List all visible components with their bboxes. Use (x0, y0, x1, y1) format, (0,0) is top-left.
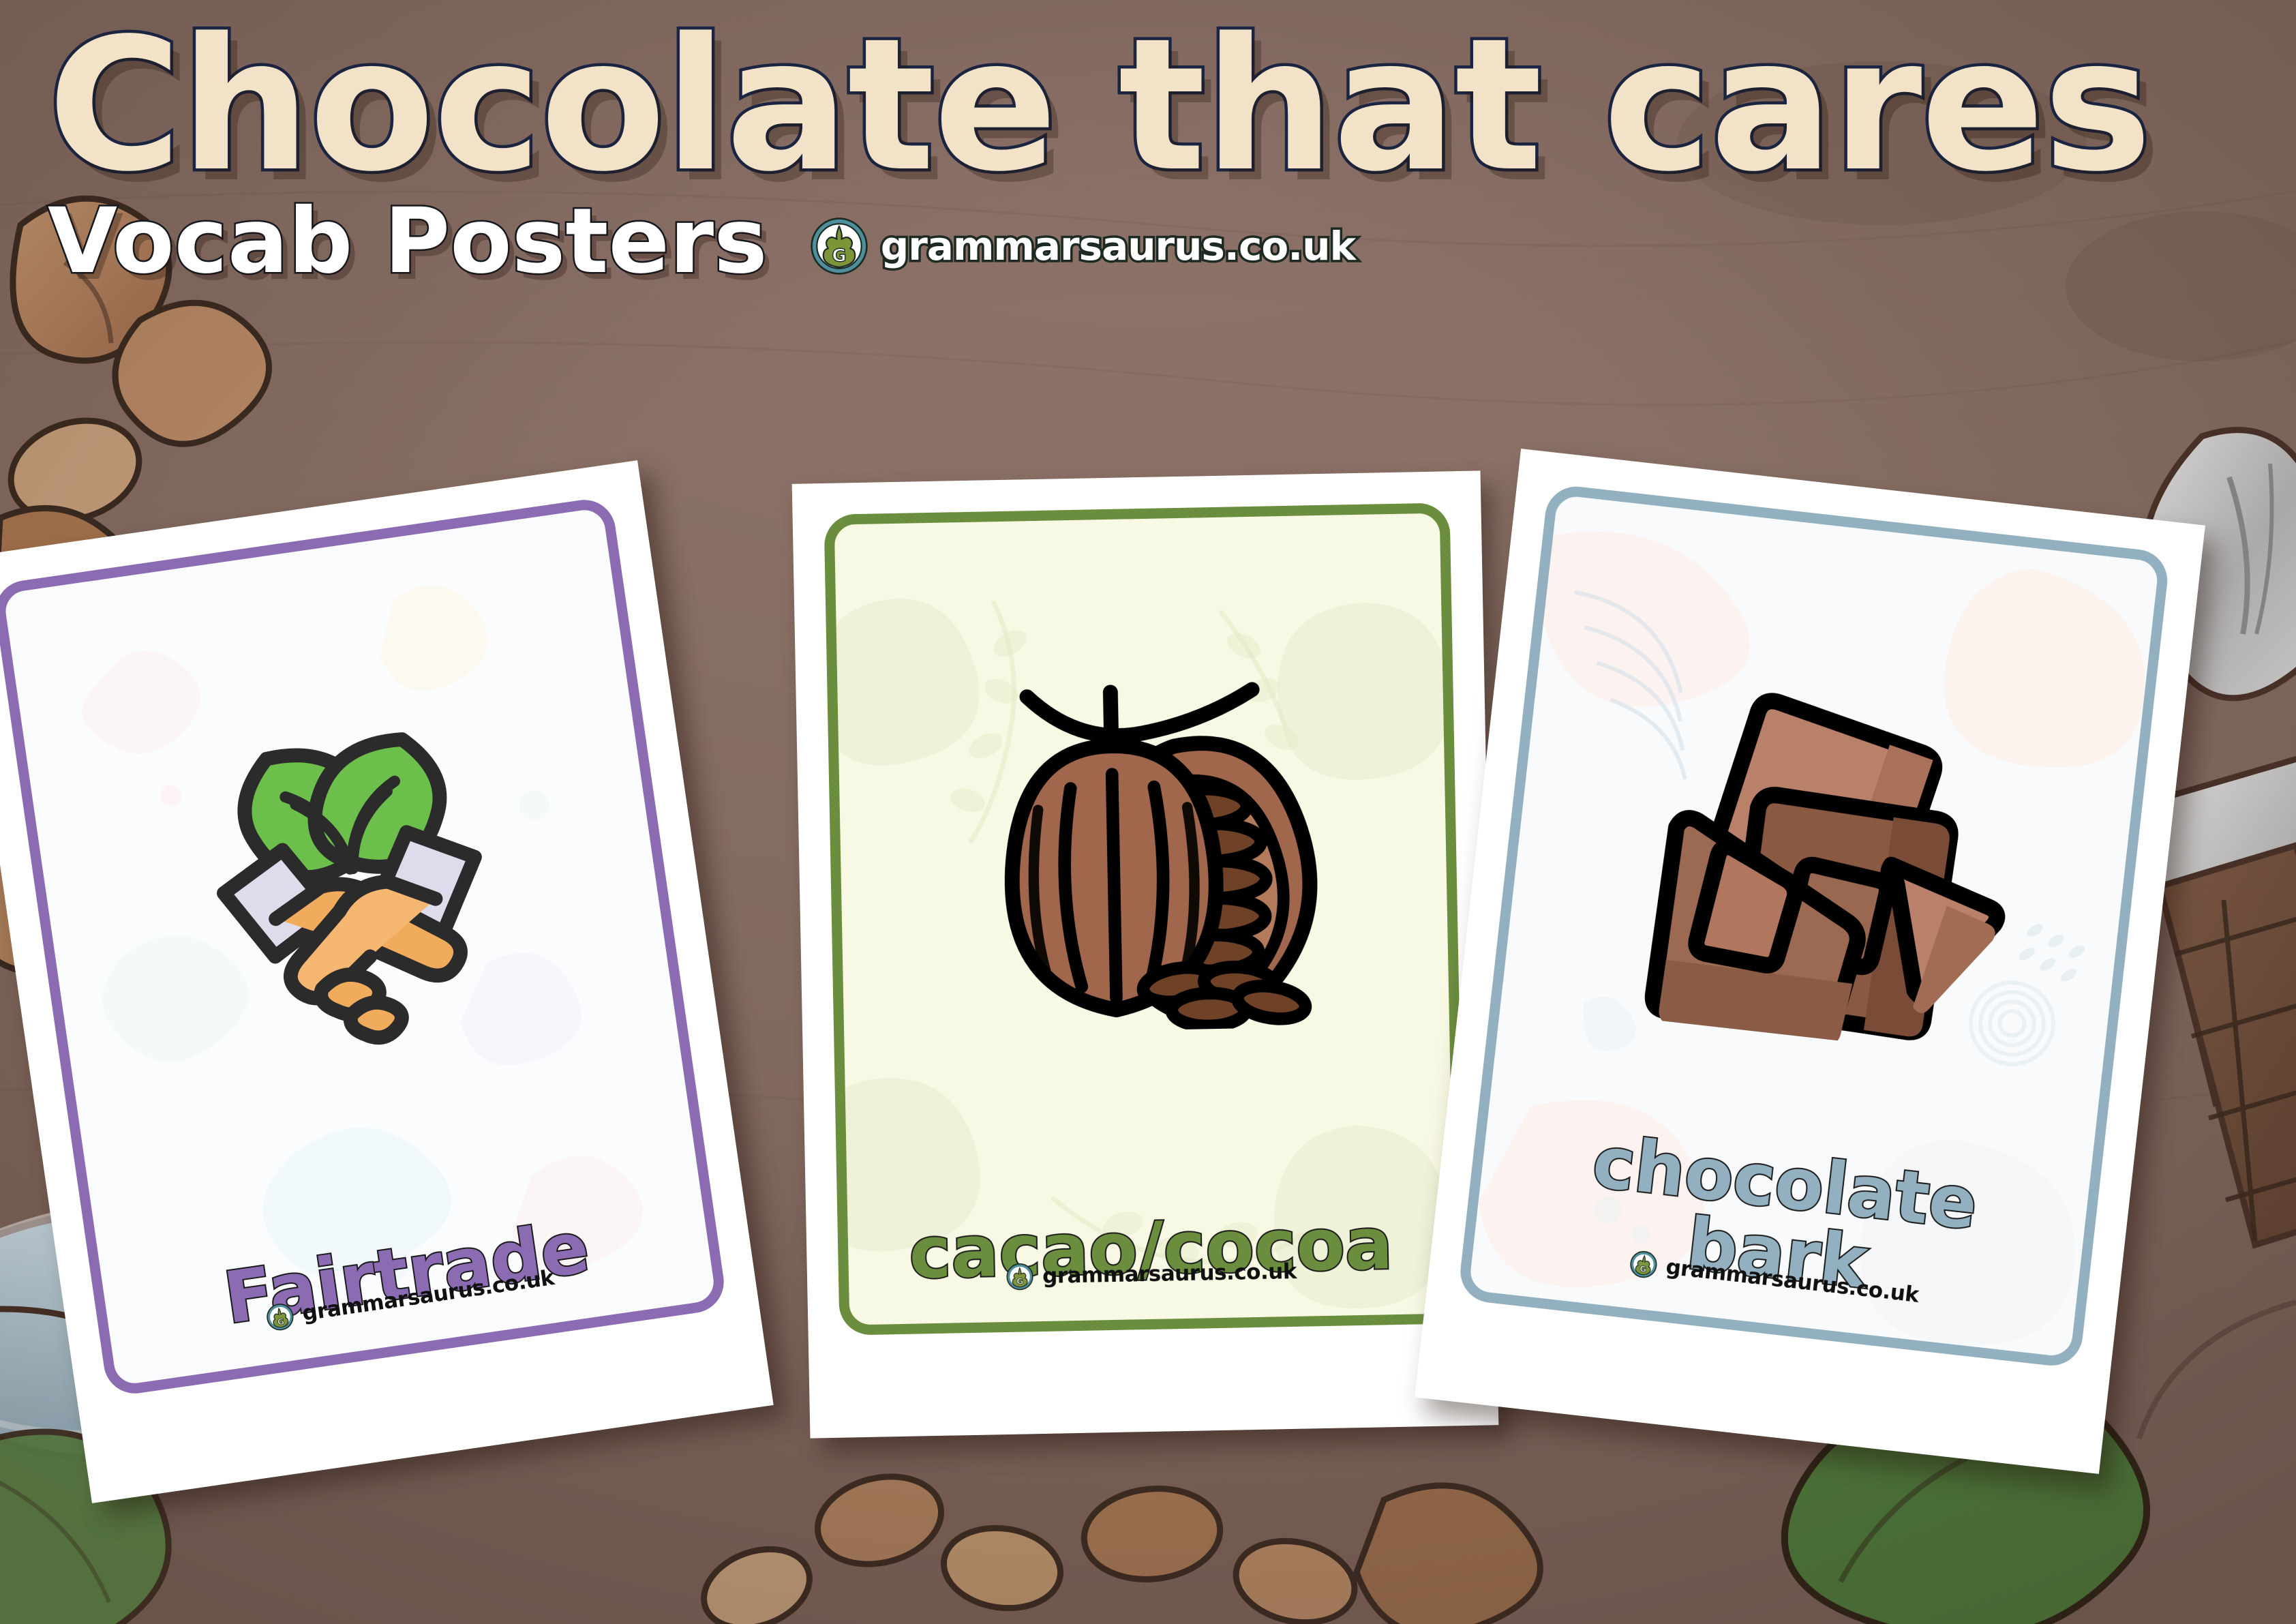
svg-text:G: G (1640, 1264, 1647, 1274)
poster-card-cacao[interactable]: cacao/cocoa G grammarsaurus.co.uk (792, 470, 1499, 1438)
page-title: Chocolate that cares (48, 20, 2296, 192)
grammarsaurus-dino-logo-icon: G (265, 1302, 295, 1332)
svg-text:G: G (1016, 1277, 1023, 1287)
chocolate-bark-pieces-icon (1612, 635, 2034, 1057)
page-subtitle: Vocab Posters (48, 196, 768, 286)
cacao-pod-and-beans-icon (948, 644, 1338, 1034)
poster-card-fairtrade[interactable]: Fairtrade G grammarsaurus.co.uk (0, 460, 774, 1503)
grammarsaurus-dino-logo-icon: G (1629, 1249, 1659, 1279)
poster-card-chocolate-bark[interactable]: chocolate bark G grammarsaurus.co.uk (1415, 449, 2205, 1474)
brand-lockup: G grammarsaurus.co.uk (810, 217, 1355, 275)
poster-promo-image: Chocolate that cares Vocab Posters G gra… (0, 0, 2296, 1624)
cocoa-beans-illustration (693, 1464, 1540, 1624)
grammarsaurus-dino-logo-icon: G (810, 217, 868, 275)
poster-card-inner: cacao/cocoa G grammarsaurus.co.uk (824, 502, 1466, 1335)
svg-text:G: G (832, 245, 846, 266)
poster-card-inner: chocolate bark G grammarsaurus.co.uk (1457, 483, 2171, 1369)
grammarsaurus-dino-logo-icon: G (1006, 1263, 1034, 1291)
poster-card-inner: Fairtrade G grammarsaurus.co.uk (0, 496, 728, 1398)
handshake-with-leaves-icon (132, 651, 564, 1083)
svg-text:G: G (277, 1317, 285, 1327)
header: Chocolate that cares Vocab Posters G gra… (0, 0, 2296, 286)
brand-url: grammarsaurus.co.uk (881, 223, 1355, 269)
card-footer-url: grammarsaurus.co.uk (1042, 1259, 1297, 1289)
